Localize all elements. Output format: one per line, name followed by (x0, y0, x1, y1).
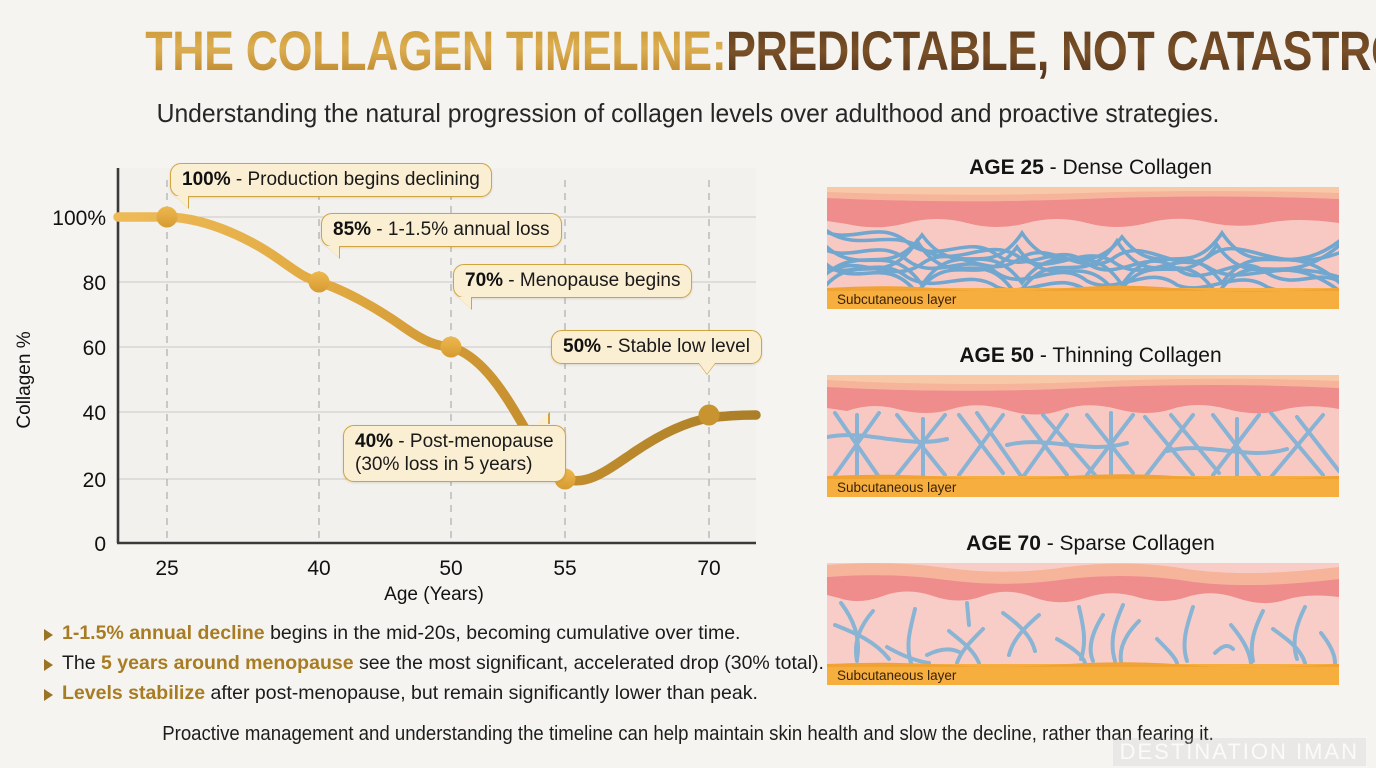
callout-70-pct: 70% (465, 270, 503, 291)
bullet-1-highlight: 1-1.5% annual decline (62, 622, 265, 644)
callout-50-tail (699, 363, 715, 374)
bullet-2-rest: see the most significant, accelerated dr… (354, 652, 824, 674)
x-tick-50: 50 (439, 557, 462, 580)
y-tick-60: 60 (83, 337, 106, 360)
collagen-timeline-chart: 100% 80 60 40 20 0 25 40 50 55 70 Age (Y… (0, 150, 800, 610)
skin-panel-age70-title: AGE 70 - Sparse Collagen (818, 532, 1363, 556)
callout-100: 100% - Production begins declining (170, 163, 492, 197)
skin-diagram-age25: Subcutaneous layer (827, 187, 1339, 309)
y-axis-title: Collagen % (14, 331, 35, 428)
bullet-2-pre: The (62, 652, 101, 674)
bullet-3-rest: after post-menopause, but remain signifi… (205, 682, 758, 704)
x-tick-40: 40 (307, 557, 330, 580)
skin-panel-age25: AGE 25 - Dense Collagen (818, 156, 1363, 309)
data-point-70 (699, 405, 720, 426)
callout-50-text: - Stable low level (601, 336, 750, 357)
callout-100-tail (175, 196, 188, 208)
callout-85-box: 85% - 1-1.5% annual loss (321, 213, 562, 247)
y-tick-20: 20 (83, 469, 106, 492)
subcutaneous-label-25: Subcutaneous layer (837, 292, 957, 307)
callout-40-line2: (30% loss in 5 years) (355, 453, 554, 476)
triangle-bullet-icon (44, 689, 53, 701)
page-title-part2: PREDICTABLE, NOT CATASTROPHIC (726, 22, 1376, 80)
callout-100-pct: 100% (182, 169, 231, 190)
skin-panel-age50: AGE 50 - Thinning Collagen (818, 344, 1363, 497)
callout-70: 70% - Menopause begins (453, 264, 692, 298)
callout-85-tail (326, 246, 339, 258)
callout-50-box: 50% - Stable low level (551, 330, 762, 364)
skin-panel-age25-desc: - Dense Collagen (1044, 156, 1212, 179)
callout-40-text: - Post-menopause (393, 431, 554, 452)
skin-panel-age50-age: AGE 50 (959, 344, 1034, 367)
skin-cross-section-panels: AGE 25 - Dense Collagen (818, 156, 1363, 706)
page-title-part1: THE COLLAGEN TIMELINE: (145, 22, 726, 80)
skin-panel-age25-title: AGE 25 - Dense Collagen (818, 156, 1363, 180)
skin-diagram-age70: Subcutaneous layer (827, 563, 1339, 685)
y-tick-0: 0 (94, 533, 106, 556)
callout-50: 50% - Stable low level (551, 330, 762, 364)
list-item: Levels stabilize after post-menopause, b… (40, 680, 780, 707)
footer-text: Proactive management and understanding t… (48, 723, 1328, 746)
skin-panel-age70: AGE 70 - Sparse Collagen (818, 532, 1363, 685)
callout-70-text: - Menopause begins (503, 270, 680, 291)
callout-40-tail (535, 413, 548, 425)
skin-panel-age70-age: AGE 70 (966, 532, 1041, 555)
data-point-40 (309, 272, 330, 293)
x-tick-70: 70 (697, 557, 720, 580)
callout-40-box: 40% - Post-menopause(30% loss in 5 years… (343, 425, 566, 482)
x-tick-55: 55 (553, 557, 576, 580)
triangle-bullet-icon (44, 659, 53, 671)
bullet-2-highlight: 5 years around menopause (101, 652, 354, 674)
callout-85-text: - 1-1.5% annual loss (371, 219, 550, 240)
page-title: THE COLLAGEN TIMELINE:PREDICTABLE, NOT C… (0, 22, 1376, 80)
key-points-list: 1-1.5% annual decline begins in the mid-… (40, 620, 780, 710)
skin-panel-age50-title: AGE 50 - Thinning Collagen (818, 344, 1363, 368)
callout-40: 40% - Post-menopause(30% loss in 5 years… (343, 425, 566, 482)
y-tick-100: 100% (52, 207, 106, 230)
callout-70-box: 70% - Menopause begins (453, 264, 692, 298)
callout-70-tail (458, 297, 471, 309)
bullet-3-highlight: Levels stabilize (62, 682, 205, 704)
subcutaneous-label-50: Subcutaneous layer (837, 480, 957, 495)
y-tick-labels: 100% 80 60 40 20 0 (52, 207, 106, 556)
callout-40-pct: 40% (355, 431, 393, 452)
skin-panel-age70-desc: - Sparse Collagen (1041, 532, 1215, 555)
bullet-1-rest: begins in the mid-20s, becoming cumulati… (265, 622, 741, 644)
page-subtitle: Understanding the natural progression of… (34, 98, 1341, 129)
list-item: 1-1.5% annual decline begins in the mid-… (40, 620, 780, 647)
skin-panel-age50-desc: - Thinning Collagen (1034, 344, 1222, 367)
callout-85-pct: 85% (333, 219, 371, 240)
x-tick-25: 25 (155, 557, 178, 580)
data-point-50 (441, 337, 462, 358)
callout-85: 85% - 1-1.5% annual loss (321, 213, 562, 247)
y-tick-40: 40 (83, 402, 106, 425)
y-tick-80: 80 (83, 272, 106, 295)
list-item: The 5 years around menopause see the mos… (40, 650, 780, 677)
skin-diagram-age50: Subcutaneous layer (827, 375, 1339, 497)
skin-panel-age25-age: AGE 25 (969, 156, 1044, 179)
triangle-bullet-icon (44, 629, 53, 641)
x-tick-labels: 25 40 50 55 70 (155, 557, 720, 580)
subcutaneous-label-70: Subcutaneous layer (837, 668, 957, 683)
x-axis-title: Age (Years) (384, 584, 484, 605)
callout-100-text: - Production begins declining (231, 169, 480, 190)
data-point-25 (157, 207, 178, 228)
callout-100-box: 100% - Production begins declining (170, 163, 492, 197)
callout-50-pct: 50% (563, 336, 601, 357)
